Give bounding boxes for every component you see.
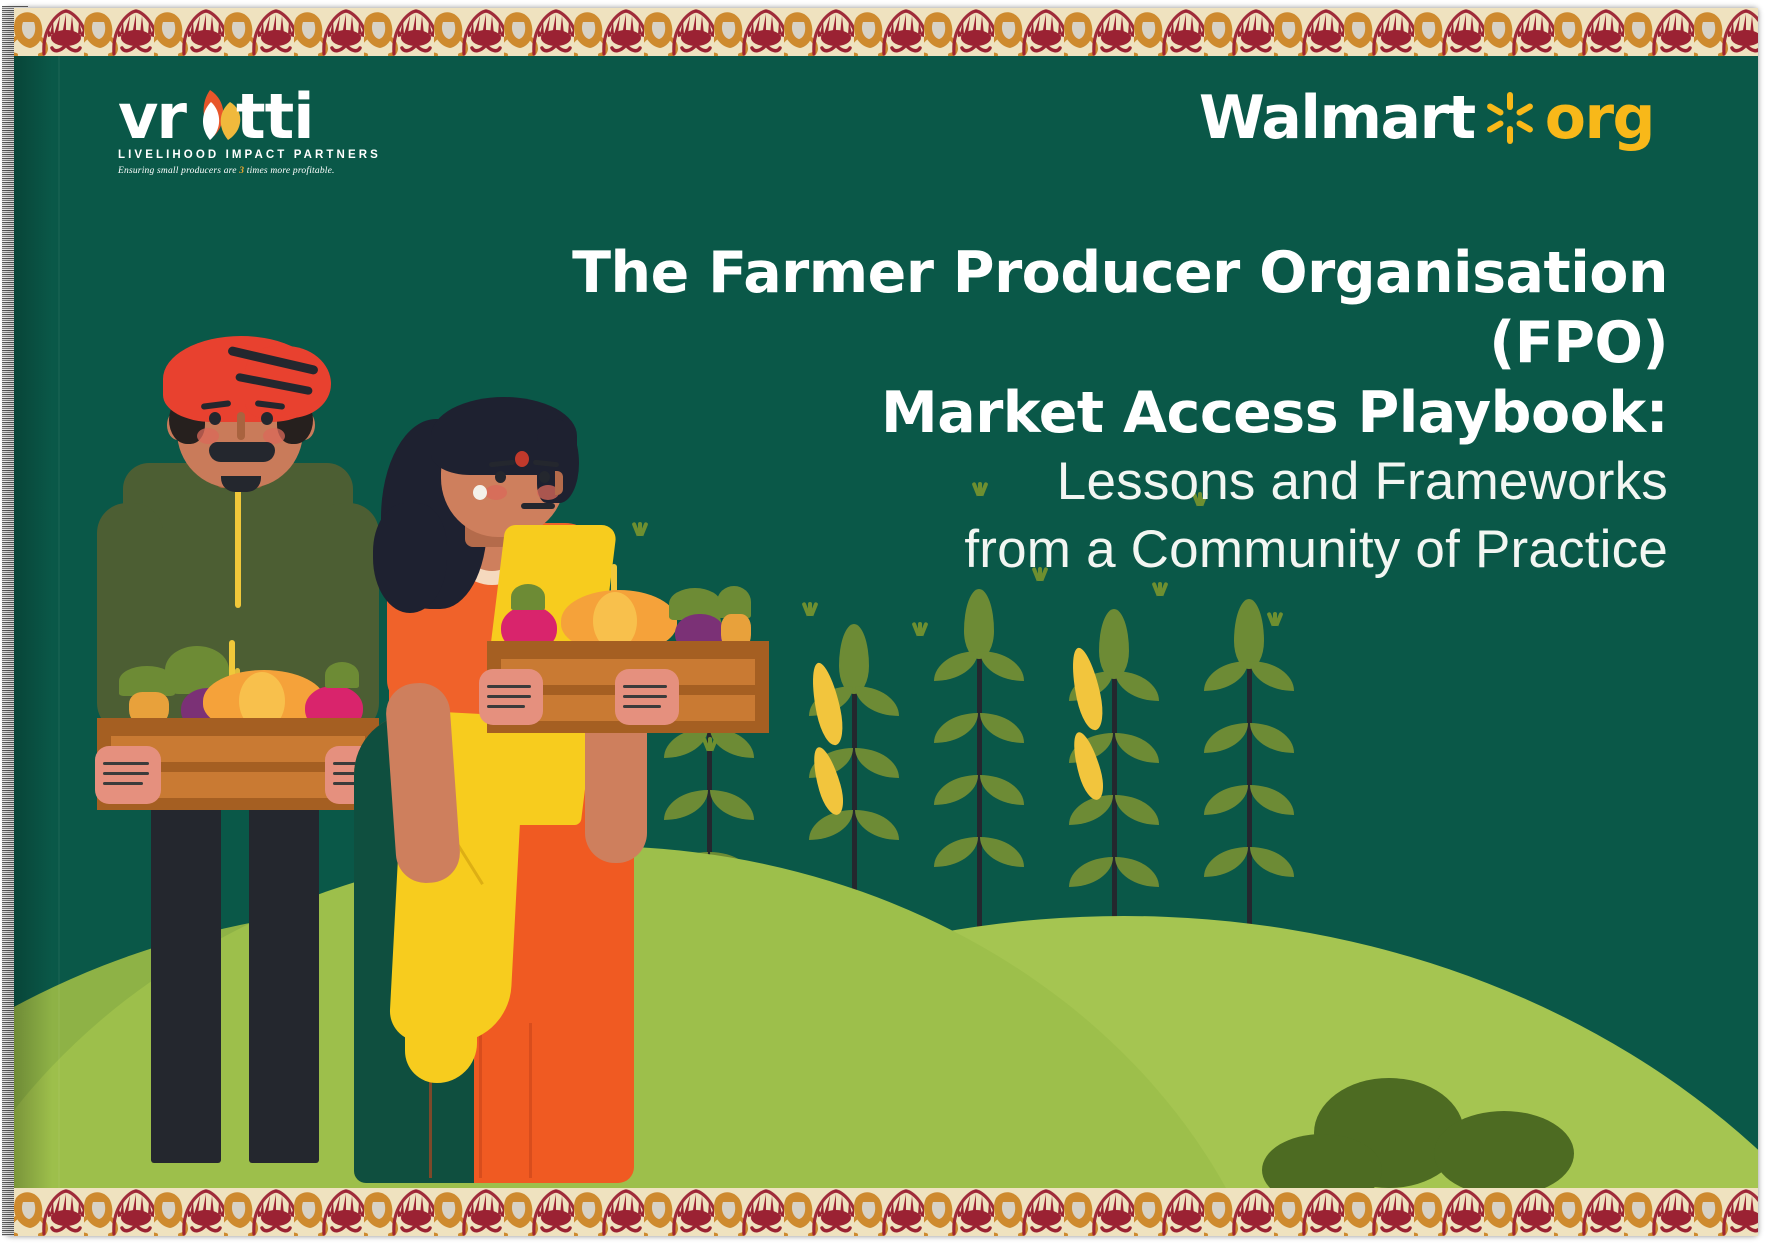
border-motif bbox=[1344, 1188, 1414, 1236]
cover-surface: vr tti LIVELIHOOD IMPACT PARTNERS Ensuri… bbox=[14, 8, 1758, 1236]
border-motif bbox=[994, 1188, 1064, 1236]
border-motif bbox=[924, 1188, 994, 1236]
walmart-org-logo: Walmart org bbox=[1199, 86, 1654, 150]
bush-shape bbox=[1434, 1111, 1574, 1196]
border-motif bbox=[1414, 8, 1484, 56]
female-hair-braid bbox=[373, 503, 447, 613]
border-motif bbox=[14, 8, 84, 56]
decorative-border-top bbox=[14, 8, 1758, 56]
border-motif bbox=[1134, 1188, 1204, 1236]
grass-tuft bbox=[914, 620, 926, 636]
male-moustache bbox=[209, 442, 275, 462]
spark-ray bbox=[1515, 102, 1534, 116]
border-motif bbox=[574, 1188, 644, 1236]
border-motif bbox=[294, 8, 364, 56]
border-motif bbox=[1274, 8, 1344, 56]
decorative-border-bottom bbox=[14, 1188, 1758, 1236]
border-motif bbox=[644, 1188, 714, 1236]
vrutti-text-vr: vr bbox=[118, 82, 187, 152]
subtitle-line-1: Lessons and Frameworks bbox=[438, 448, 1668, 516]
border-motif bbox=[1554, 1188, 1624, 1236]
border-motif bbox=[224, 8, 294, 56]
male-left-hand bbox=[95, 746, 161, 804]
border-motif bbox=[14, 1188, 84, 1236]
border-motif bbox=[784, 1188, 854, 1236]
border-motif bbox=[1344, 8, 1414, 56]
spine-fold-line bbox=[58, 8, 60, 1236]
border-motif bbox=[504, 1188, 574, 1236]
border-motif bbox=[154, 1188, 224, 1236]
border-motif bbox=[1204, 8, 1274, 56]
border-motif bbox=[854, 8, 924, 56]
wheat-plant bbox=[1204, 603, 1294, 958]
male-nose bbox=[237, 412, 245, 440]
border-motif bbox=[714, 8, 784, 56]
border-motif bbox=[1554, 8, 1624, 56]
grass-tuft bbox=[1269, 610, 1281, 626]
border-motif bbox=[1204, 1188, 1274, 1236]
border-motif bbox=[1064, 1188, 1134, 1236]
vrutti-tagline-post: times more profitable. bbox=[244, 166, 334, 176]
vrutti-text-tti: tti bbox=[236, 82, 314, 152]
border-motif bbox=[224, 1188, 294, 1236]
border-motif bbox=[1694, 8, 1758, 56]
female-pallu-tail bbox=[405, 943, 477, 1083]
spine-fold-shading bbox=[14, 8, 69, 1236]
vrutti-tagline-small: Ensuring small producers are 3 times mor… bbox=[118, 166, 388, 176]
walmart-org-suffix: org bbox=[1545, 86, 1654, 150]
grass-tuft bbox=[804, 600, 816, 616]
book-cover-page: vr tti LIVELIHOOD IMPACT PARTNERS Ensuri… bbox=[0, 0, 1766, 1244]
border-motif bbox=[784, 8, 854, 56]
vrutti-logo: vr tti LIVELIHOOD IMPACT PARTNERS Ensuri… bbox=[118, 82, 388, 176]
spark-ray bbox=[1486, 119, 1505, 133]
border-motif bbox=[574, 8, 644, 56]
tomato-leaf bbox=[511, 584, 545, 610]
spark-ray bbox=[1507, 126, 1513, 144]
border-motif bbox=[1624, 1188, 1694, 1236]
wheat-plant bbox=[934, 593, 1024, 953]
border-motif bbox=[84, 1188, 154, 1236]
border-motif bbox=[1134, 8, 1204, 56]
border-motif bbox=[644, 8, 714, 56]
grass-tuft bbox=[704, 735, 716, 751]
female-left-hand bbox=[479, 669, 543, 725]
border-motif bbox=[854, 1188, 924, 1236]
bush-shape bbox=[1262, 1134, 1382, 1196]
wheat-plant bbox=[1069, 613, 1159, 958]
border-motif bbox=[1484, 1188, 1554, 1236]
spark-ray bbox=[1507, 92, 1513, 110]
spark-ray bbox=[1515, 119, 1534, 133]
border-motif bbox=[364, 8, 434, 56]
border-motif bbox=[714, 1188, 784, 1236]
male-right-eye bbox=[261, 412, 273, 425]
vrutti-wordmark-svg: vr tti bbox=[118, 82, 388, 152]
male-kurta-placket bbox=[235, 488, 241, 608]
border-motif bbox=[504, 8, 574, 56]
border-motif bbox=[434, 1188, 504, 1236]
male-produce-group bbox=[99, 638, 379, 728]
border-motif bbox=[924, 8, 994, 56]
border-motif bbox=[1694, 1188, 1758, 1236]
title-line-1: The Farmer Producer Organisation (FPO) bbox=[438, 238, 1668, 378]
vrutti-wordmark: vr tti bbox=[118, 82, 388, 144]
vrutti-tagline-pre: Ensuring small producers are bbox=[118, 166, 239, 176]
walmart-wordmark: Walmart bbox=[1199, 86, 1475, 150]
border-motif bbox=[1274, 1188, 1344, 1236]
spark-ray bbox=[1486, 102, 1505, 116]
border-motif bbox=[434, 8, 504, 56]
walmart-spark-icon bbox=[1481, 89, 1539, 147]
border-motif bbox=[1064, 8, 1134, 56]
subtitle-line-2: from a Community of Practice bbox=[438, 516, 1668, 584]
title-line-2: Market Access Playbook: bbox=[438, 378, 1668, 448]
border-motif bbox=[154, 8, 224, 56]
border-motif bbox=[1624, 8, 1694, 56]
border-motif bbox=[1484, 8, 1554, 56]
border-motif bbox=[364, 1188, 434, 1236]
border-motif bbox=[294, 1188, 364, 1236]
male-left-eye bbox=[209, 412, 221, 425]
cover-title-block: The Farmer Producer Organisation (FPO) M… bbox=[438, 238, 1668, 584]
saree-pleat bbox=[529, 1023, 532, 1178]
illustration-scene bbox=[14, 48, 1758, 1196]
border-motif bbox=[994, 8, 1064, 56]
border-motif bbox=[84, 8, 154, 56]
border-motif bbox=[1414, 1188, 1484, 1236]
female-right-hand bbox=[615, 669, 679, 725]
tomato-leaf bbox=[325, 662, 359, 688]
